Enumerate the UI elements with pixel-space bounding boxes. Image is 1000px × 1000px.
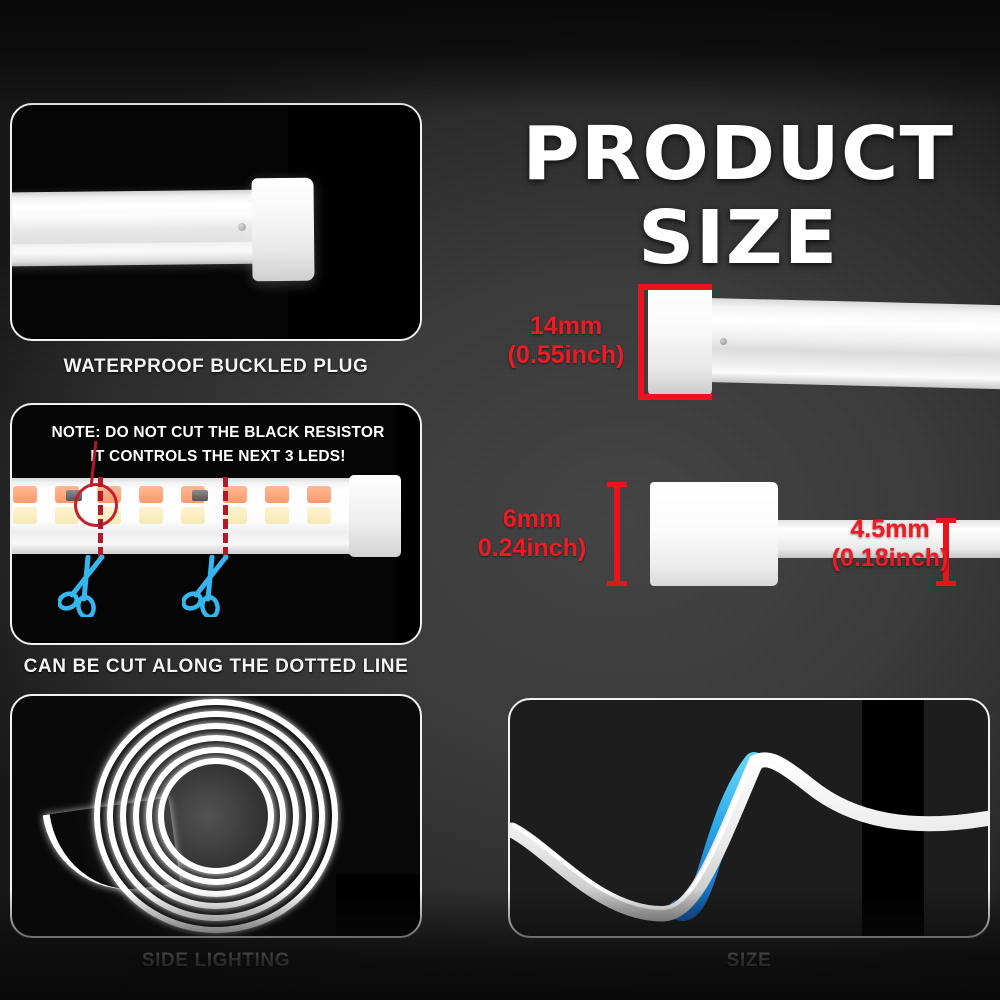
led-chip-pair [10,486,46,524]
panel-dark-block [336,874,420,936]
dimension-line-cap [936,581,956,586]
led-chip-warm [307,486,331,503]
led-chip-pair [130,486,172,524]
led-strip-inner-highlight [10,212,274,245]
led-strip-body [10,190,274,267]
caption-side-lighting: SIDE LIGHTING [10,950,422,972]
cut-dashed-line [98,477,103,557]
dimension-value-mm: 14mm [530,312,602,340]
product-photo-end-cap-side [648,282,1000,400]
dimension-value-inch: (0.18inch) [800,544,980,573]
page-title: PRODUCT SIZE [452,112,1000,196]
cut-warning-note: NOTE: DO NOT CUT THE BLACK RESISTOR IT C… [12,421,422,469]
dimension-bracket-arm [638,284,712,290]
scissors-icon [58,555,110,617]
strip-end-cap [349,475,401,557]
led-chip-warm [13,486,37,503]
led-chip-row [10,486,356,532]
dimension-value-mm: 6mm [503,505,561,533]
dimension-value-mm: 4.5mm [850,515,929,543]
dimension-value-inch: 0.24inch) [452,534,612,563]
panel-side-lighting [10,694,422,938]
dimension-label-thickness: 6mm 0.24inch) [452,505,612,563]
led-chip-cool [307,507,331,524]
dimension-value-inch: (0.55inch) [476,341,656,370]
end-cap [650,482,778,586]
led-chip-cool [13,507,37,524]
buckle-notch-icon [720,338,727,345]
led-chip-cool [181,507,205,524]
led-strip-tube [707,298,1000,389]
waterproof-end-cap [251,178,314,282]
led-chip-pair [298,486,340,524]
bent-led-strip-graphic [510,700,990,938]
led-chip-cool [265,507,289,524]
panel-waterproof-plug [10,103,422,341]
cut-dashed-line [223,477,228,557]
black-resistor [192,490,208,501]
resistor-highlight-circle [74,483,118,527]
led-chip-warm [265,486,289,503]
dimension-line-6mm [614,482,620,586]
note-line-2: IT CONTROLS THE NEXT 3 LEDS! [12,445,422,469]
dimension-label-width: 4.5mm (0.18inch) [800,515,980,573]
led-strip-body [10,478,356,554]
caption-cut-line: CAN BE CUT ALONG THE DOTTED LINE [10,656,422,678]
buckle-notch-icon [238,223,246,231]
product-size-infographic: PRODUCT SIZE WATERPROOF BUCKLED PLUG NOT… [0,0,1000,1000]
led-chip-cool [139,507,163,524]
led-chip-pair [214,486,256,524]
scissors-icon [182,555,234,617]
dimension-label-height: 14mm (0.55inch) [476,312,656,370]
led-chip-pair [256,486,298,524]
note-line-1: NOTE: DO NOT CUT THE BLACK RESISTOR [51,424,384,441]
dimension-line-cap [607,482,627,487]
panel-cut-line: NOTE: DO NOT CUT THE BLACK RESISTOR IT C… [10,403,422,645]
caption-size: SIZE [508,950,990,972]
caption-waterproof-plug: WATERPROOF BUCKLED PLUG [10,356,422,378]
led-chip-warm [139,486,163,503]
dimension-bracket-arm [638,394,712,400]
panel-size-bend [508,698,990,938]
dimension-line-cap [607,581,627,586]
